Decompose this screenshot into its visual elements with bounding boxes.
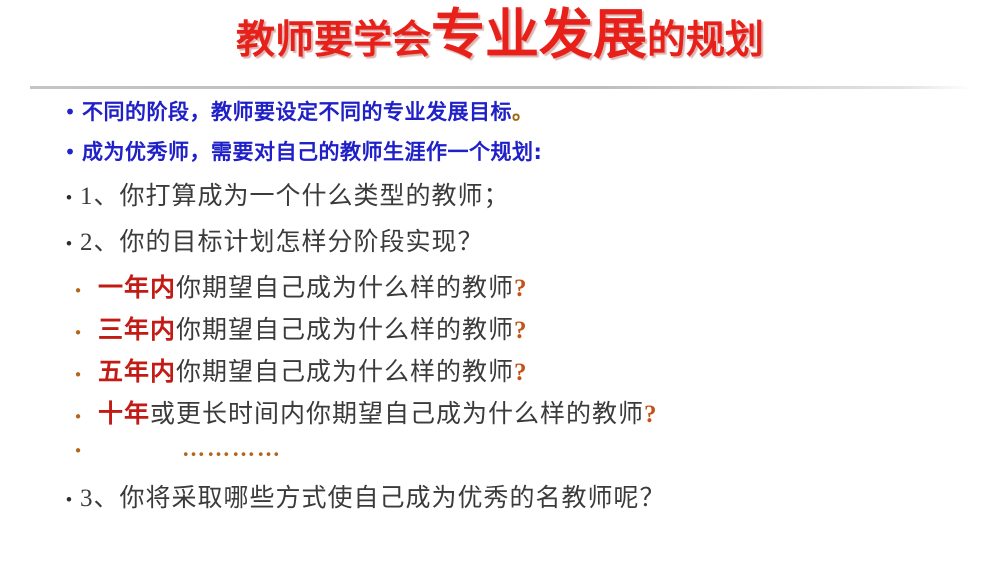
bullet-icon: •: [58, 140, 82, 164]
question-mark: ?: [514, 317, 528, 344]
list-item-text: 你期望自己成为什么样的教师: [176, 275, 514, 302]
list-item-text: 或更长时间内你期望自己成为什么样的教师: [150, 401, 644, 428]
list-item-text: 不同的阶段，教师要设定不同的专业发展目标: [82, 100, 512, 124]
list-item-label: 不同的阶段，教师要设定不同的专业发展目标。: [82, 96, 534, 126]
list-item-label: 成为优秀师，需要对自己的教师生涯作一个规划:: [82, 136, 542, 166]
list-item-punctuation: 。: [512, 100, 534, 124]
list-item-label: …………: [98, 436, 282, 462]
list-item: • 成为优秀师，需要对自己的教师生涯作一个规划:: [0, 136, 1000, 176]
list-item: • 一年内你期望自己成为什么样的教师?: [0, 268, 1000, 310]
bullet-icon: •: [58, 442, 98, 460]
list-item-text: 你期望自己成为什么样的教师: [176, 359, 514, 386]
bullet-icon: •: [58, 100, 82, 124]
list-item: • …………: [0, 436, 1000, 478]
slide-body-list: • 不同的阶段，教师要设定不同的专业发展目标。 • 成为优秀师，需要对自己的教师…: [0, 96, 1000, 524]
list-item: • 五年内你期望自己成为什么样的教师?: [0, 352, 1000, 394]
slide-title-part-3: 的规划: [647, 18, 764, 63]
list-item-label: 3、你将采取哪些方式使自己成为优秀的名教师呢？: [80, 478, 666, 514]
list-item-label: 五年内你期望自己成为什么样的教师?: [98, 352, 528, 388]
bullet-icon: •: [58, 282, 98, 300]
list-item-label: 十年或更长时间内你期望自己成为什么样的教师?: [98, 394, 658, 430]
slide-canvas: 教师要学会专业发展的规划 • 不同的阶段，教师要设定不同的专业发展目标。 • 成…: [0, 0, 1000, 562]
slide-title: 教师要学会专业发展的规划: [0, 8, 1000, 62]
timeframe-highlight: 一年内: [98, 275, 176, 302]
bullet-icon: •: [58, 490, 80, 512]
list-item: • 2、你的目标计划怎样分阶段实现？: [0, 222, 1000, 268]
question-mark: ?: [644, 401, 658, 428]
bullet-icon: •: [58, 234, 80, 256]
slide-title-part-2: 专业发展: [431, 3, 647, 66]
list-item-text: 你期望自己成为什么样的教师: [176, 317, 514, 344]
bullet-icon: •: [58, 188, 80, 210]
bullet-icon: •: [58, 366, 98, 384]
timeframe-highlight: 三年内: [98, 317, 176, 344]
list-item: • 1、你打算成为一个什么类型的教师；: [0, 176, 1000, 222]
question-mark: ?: [514, 275, 528, 302]
slide-title-part-1: 教师要学会: [236, 18, 431, 63]
title-divider-rule: [30, 86, 972, 89]
list-item: • 十年或更长时间内你期望自己成为什么样的教师?: [0, 394, 1000, 436]
bullet-icon: •: [58, 324, 98, 342]
question-mark: ?: [514, 359, 528, 386]
list-item-label: 一年内你期望自己成为什么样的教师?: [98, 268, 528, 304]
list-item: • 不同的阶段，教师要设定不同的专业发展目标。: [0, 96, 1000, 136]
list-item-label: 2、你的目标计划怎样分阶段实现？: [80, 222, 484, 258]
list-item: • 3、你将采取哪些方式使自己成为优秀的名教师呢？: [0, 478, 1000, 524]
list-item: • 三年内你期望自己成为什么样的教师?: [0, 310, 1000, 352]
bullet-icon: •: [58, 408, 98, 426]
list-item-label: 1、你打算成为一个什么类型的教师；: [80, 176, 510, 212]
timeframe-highlight: 十年: [98, 401, 150, 428]
timeframe-highlight: 五年内: [98, 359, 176, 386]
list-item-label: 三年内你期望自己成为什么样的教师?: [98, 310, 528, 346]
